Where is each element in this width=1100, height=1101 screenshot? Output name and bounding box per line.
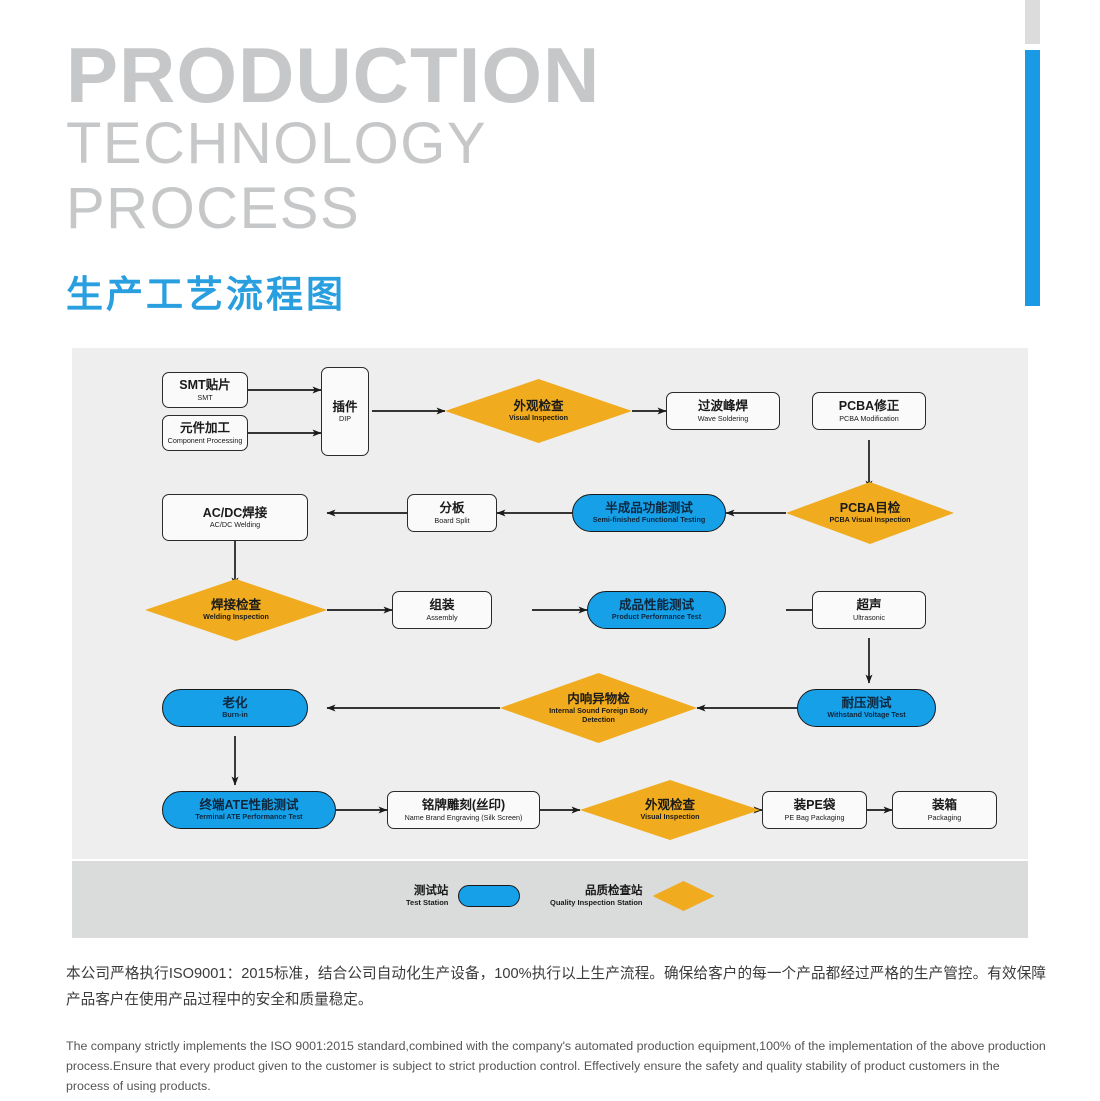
node-acdc-label-en: AC/DC Welding <box>210 521 260 529</box>
node-welding-inspection[interactable]: 焊接检查 Welding Inspection <box>145 579 327 641</box>
legend-test-label-en: Test Station <box>406 899 448 908</box>
node-pcba-modification[interactable]: PCBA修正 PCBA Modification <box>812 392 926 430</box>
node-packaging[interactable]: 装箱 Packaging <box>892 791 997 829</box>
node-terminal-ate-performance-test[interactable]: 终端ATE性能测试 Terminal ATE Performance Test <box>162 791 336 829</box>
node-pe-bag-packaging[interactable]: 装PE袋 PE Bag Packaging <box>762 791 867 829</box>
node-burnin-label-en: Burn-in <box>222 711 248 719</box>
page-header: PRODUCTION TECHNOLOGY PROCESS 生产工艺流程图 <box>66 38 600 318</box>
node-pcbavis-label-cn: PCBA目检 <box>829 501 910 515</box>
footer-paragraph-chinese: 本公司严格执行ISO9001：2015标准，结合公司自动化生产设备，100%执行… <box>66 962 1046 1013</box>
node-semifin-label-cn: 半成品功能测试 <box>605 501 693 515</box>
node-visual-inspection-2[interactable]: 外观检查 Visual Inspection <box>580 780 760 840</box>
node-board-split[interactable]: 分板 Board Split <box>407 494 497 532</box>
node-wave-soldering[interactable]: 过波峰焊 Wave Soldering <box>666 392 780 430</box>
legend-item-quality-inspection-station: 品质检查站 Quality Inspection Station <box>550 881 715 911</box>
node-pebag-label-cn: 装PE袋 <box>794 798 836 812</box>
node-smt-label-en: SMT <box>197 394 212 402</box>
node-component-label-en: Component Processing <box>168 437 243 445</box>
node-pcbamod-label-cn: PCBA修正 <box>839 399 899 413</box>
node-perftest-label-en: Product Performance Test <box>612 613 701 621</box>
node-voltage-label-cn: 耐压测试 <box>841 696 891 710</box>
node-assembly-label-en: Assembly <box>426 614 457 622</box>
node-visual-inspection-1[interactable]: 外观检查 Visual Inspection <box>445 379 632 443</box>
node-sound-label-cn: 内响异物检 <box>539 692 659 706</box>
node-component-label-cn: 元件加工 <box>180 421 230 435</box>
legend-item-test-station: 测试站 Test Station <box>406 885 520 908</box>
footer-paragraph-english: The company strictly implements the ISO … <box>66 1036 1046 1096</box>
legend-test-label-cn: 测试站 <box>406 885 448 898</box>
node-boardsplit-label-cn: 分板 <box>439 501 464 515</box>
page-subtitle-chinese: 生产工艺流程图 <box>66 264 600 318</box>
node-assembly-label-cn: 组装 <box>429 598 454 612</box>
page-root: PRODUCTION TECHNOLOGY PROCESS 生产工艺流程图 <box>0 0 1100 1101</box>
node-welding-label-en: Welding Inspection <box>203 613 269 621</box>
node-internal-sound-foreign-body-detection[interactable]: 内响异物检 Internal Sound Foreign Body Detect… <box>500 673 697 743</box>
legend-test-pill-icon <box>458 885 520 907</box>
node-wave-label-en: Wave Soldering <box>698 415 748 423</box>
node-dip-label-en: DIP <box>339 415 351 423</box>
node-packaging-label-en: Packaging <box>928 814 962 822</box>
flowchart-panel: SMT贴片 SMT 元件加工 Component Processing 插件 D… <box>72 348 1028 859</box>
node-engrave-label-cn: 铭牌雕刻(丝印) <box>422 798 505 812</box>
node-visual1-label-cn: 外观检查 <box>509 399 568 413</box>
node-semifin-label-en: Semi-finished Functional Testing <box>593 516 705 524</box>
node-dip[interactable]: 插件 DIP <box>321 367 369 456</box>
node-welding-label-cn: 焊接检查 <box>203 598 269 612</box>
node-acdc-welding[interactable]: AC/DC焊接 AC/DC Welding <box>162 494 308 541</box>
node-visual2-label-cn: 外观检查 <box>641 798 700 812</box>
node-pcbamod-label-en: PCBA Modification <box>839 415 899 423</box>
node-voltage-label-en: Withstand Voltage Test <box>827 711 905 719</box>
accent-bar-blue <box>1025 50 1040 306</box>
node-smt-label-cn: SMT贴片 <box>179 378 230 392</box>
node-pcba-visual-inspection[interactable]: PCBA目检 PCBA Visual Inspection <box>786 482 954 544</box>
node-perftest-label-cn: 成品性能测试 <box>619 598 694 612</box>
node-acdc-label-cn: AC/DC焊接 <box>203 506 268 520</box>
node-smt[interactable]: SMT贴片 SMT <box>162 372 248 408</box>
node-ate-label-cn: 终端ATE性能测试 <box>199 798 298 812</box>
node-wave-label-cn: 过波峰焊 <box>698 399 748 413</box>
node-semifinished-functional-testing[interactable]: 半成品功能测试 Semi-finished Functional Testing <box>572 494 726 532</box>
node-ultrasonic-label-cn: 超声 <box>856 598 881 612</box>
header-line-production: PRODUCTION <box>66 38 600 112</box>
header-line-process: PROCESS <box>66 177 600 242</box>
node-pebag-label-en: PE Bag Packaging <box>785 814 845 822</box>
legend-inspection-label-cn: 品质检查站 <box>550 885 643 898</box>
legend-inspection-label-en: Quality Inspection Station <box>550 899 643 908</box>
flowchart-canvas: SMT贴片 SMT 元件加工 Component Processing 插件 D… <box>72 348 1028 859</box>
node-withstand-voltage-test[interactable]: 耐压测试 Withstand Voltage Test <box>797 689 936 727</box>
header-line-technology: TECHNOLOGY <box>66 112 600 177</box>
node-component-processing[interactable]: 元件加工 Component Processing <box>162 415 248 451</box>
accent-bar-gray <box>1025 0 1040 44</box>
node-assembly[interactable]: 组装 Assembly <box>392 591 492 629</box>
flowchart-legend: 测试站 Test Station 品质检查站 Quality Inspectio… <box>72 861 1028 938</box>
node-engrave-label-en: Name Brand Engraving (Silk Screen) <box>405 814 523 822</box>
node-ultrasonic-label-en: Ultrasonic <box>853 614 885 622</box>
node-burnin-label-cn: 老化 <box>222 696 247 710</box>
node-visual1-label-en: Visual Inspection <box>509 414 568 422</box>
node-ate-label-en: Terminal ATE Performance Test <box>195 813 302 821</box>
legend-inspection-diamond-icon <box>653 881 715 911</box>
node-ultrasonic[interactable]: 超声 Ultrasonic <box>812 591 926 629</box>
node-sound-label-en: Internal Sound Foreign Body Detection <box>539 707 659 723</box>
node-product-performance-test[interactable]: 成品性能测试 Product Performance Test <box>587 591 726 629</box>
node-packaging-label-cn: 装箱 <box>932 798 957 812</box>
node-dip-label-cn: 插件 <box>332 400 357 414</box>
node-boardsplit-label-en: Board Split <box>434 517 469 525</box>
node-pcbavis-label-en: PCBA Visual Inspection <box>829 516 910 524</box>
node-burn-in[interactable]: 老化 Burn-in <box>162 689 308 727</box>
node-visual2-label-en: Visual Inspection <box>641 813 700 821</box>
node-name-brand-engraving[interactable]: 铭牌雕刻(丝印) Name Brand Engraving (Silk Scre… <box>387 791 540 829</box>
